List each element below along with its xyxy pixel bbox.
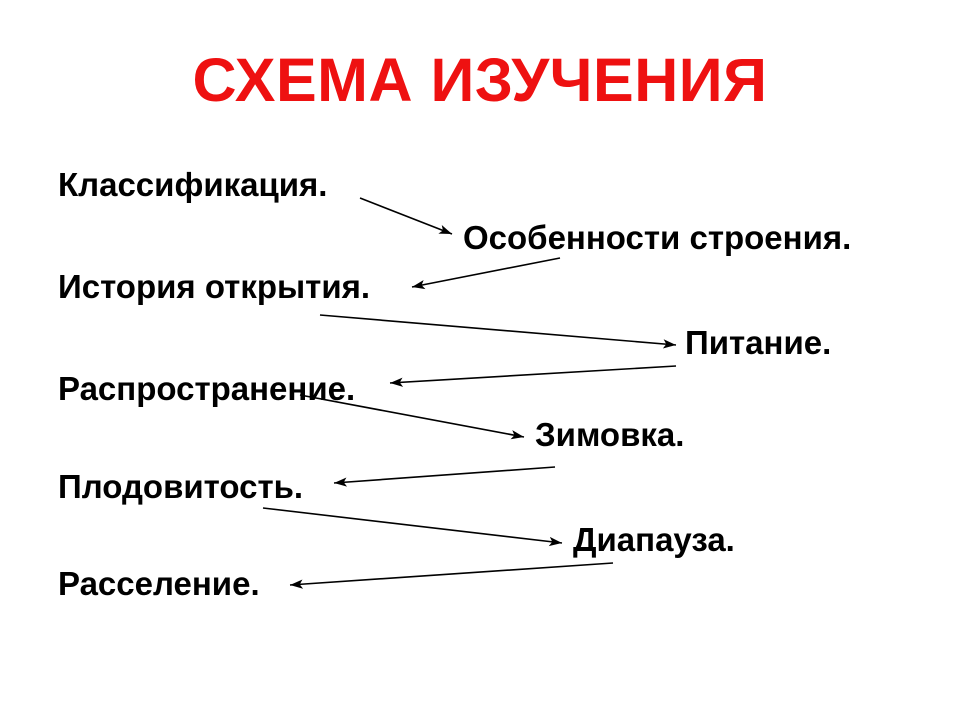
node-left-расселение: Расселение.	[58, 567, 260, 600]
arrow-плодовитость-to-диапауза	[263, 508, 562, 543]
node-left-история-открытия: История открытия.	[58, 270, 370, 303]
node-right-особенности-строения: Особенности строения.	[463, 221, 851, 254]
node-right-питание: Питание.	[685, 326, 831, 359]
arrow-зимовка-to-плодовитость	[334, 467, 555, 483]
node-right-диапауза: Диапауза.	[573, 523, 735, 556]
arrow-классификация-to-особенности-строения	[360, 198, 452, 234]
arrow-история-открытия-to-питание	[320, 315, 676, 345]
node-left-плодовитость: Плодовитость.	[58, 470, 303, 503]
slide-canvas: СХЕМА ИЗУЧЕНИЯ Классификация.История отк…	[0, 0, 960, 720]
arrow-питание-to-распространение	[390, 366, 676, 383]
arrow-диапауза-to-расселение	[290, 563, 613, 585]
page-title: СХЕМА ИЗУЧЕНИЯ	[0, 50, 960, 111]
arrow-особенности-строения-to-история-открытия	[412, 258, 560, 287]
node-right-зимовка: Зимовка.	[535, 418, 684, 451]
node-left-классификация: Классификация.	[58, 168, 327, 201]
node-left-распространение: Распространение.	[58, 372, 355, 405]
